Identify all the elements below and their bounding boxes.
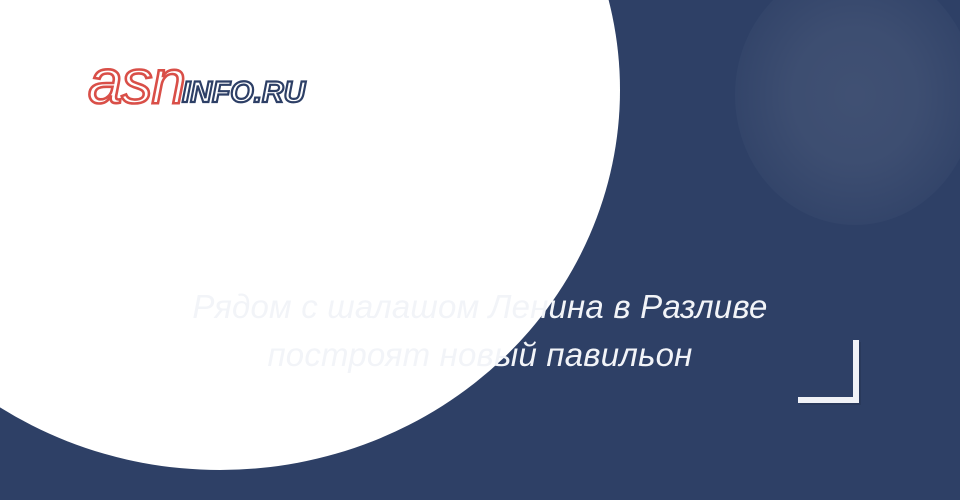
headline-line-2: построят новый павильон xyxy=(120,331,840,379)
logo-info-ru-text: INFO.RU xyxy=(182,78,305,108)
social-share-card: aSNINFO.RU Рядом с шалашом Ленина в Разл… xyxy=(0,0,960,500)
radial-glow-decoration xyxy=(735,0,960,225)
logo-asn-text: aSN xyxy=(88,52,185,114)
corner-bracket-icon xyxy=(798,340,859,403)
site-logo[interactable]: aSNINFO.RU xyxy=(88,52,305,114)
headline-line-1: Рядом с шалашом Ленина в Разливе xyxy=(120,283,840,331)
